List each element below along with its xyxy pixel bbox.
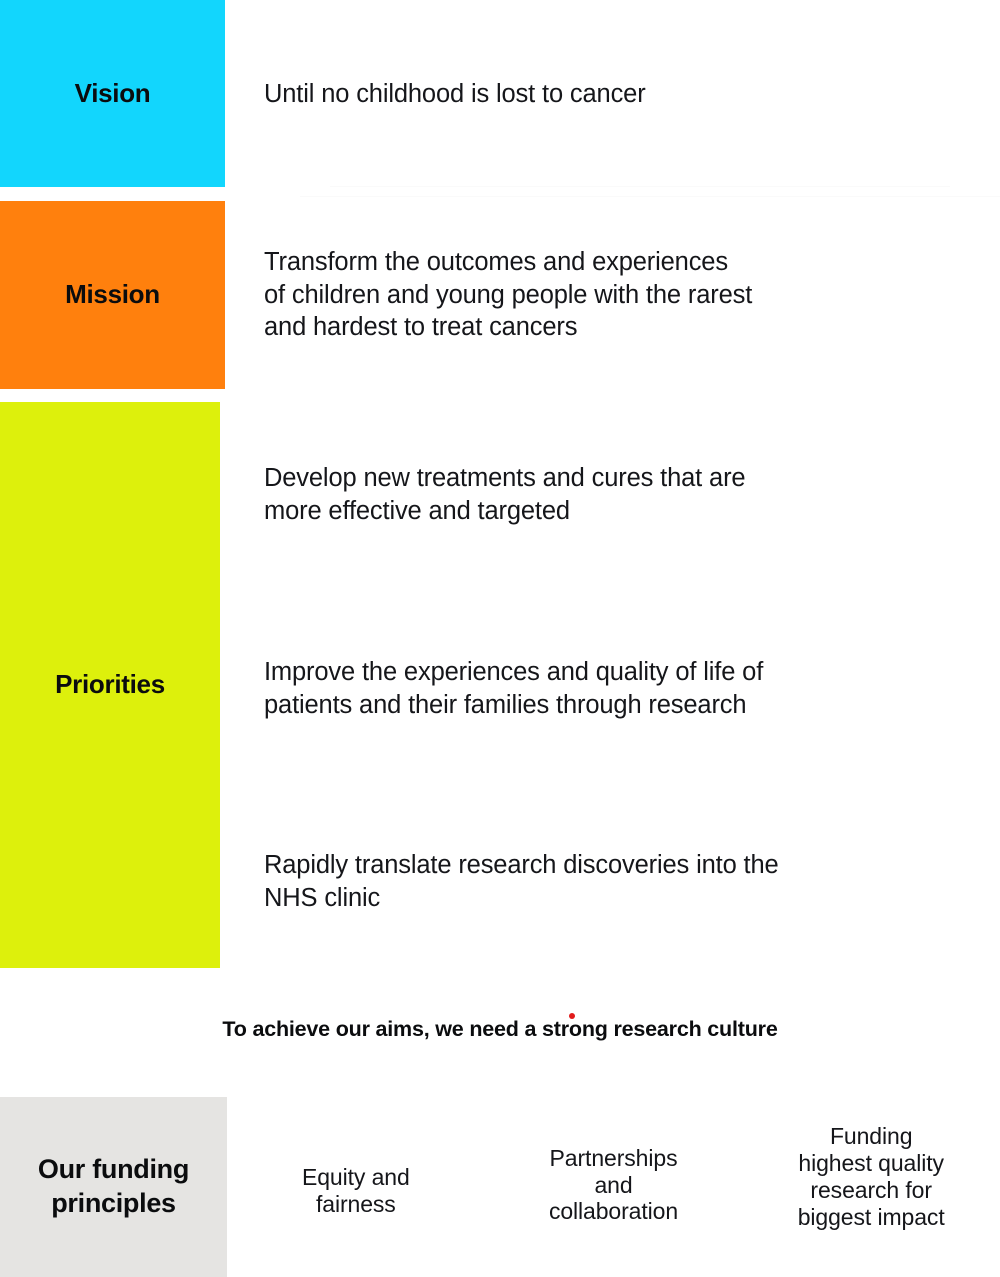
hairline-divider: [330, 186, 950, 187]
tagline-text: To achieve our aims, we need a strong re…: [222, 1017, 777, 1041]
research-culture-tagline: To achieve our aims, we need a strong re…: [222, 1017, 777, 1042]
funding-principle-item: Funding highest quality research for big…: [742, 1123, 1000, 1231]
funding-principle-item: Partnerships and collaboration: [485, 1145, 743, 1226]
priority-item: Develop new treatments and cures that ar…: [264, 462, 924, 527]
funding-principles-block: Our funding principles: [0, 1097, 227, 1277]
hairline-divider: [300, 196, 1000, 197]
strategy-infographic: Vision Until no childhood is lost to can…: [0, 0, 1000, 1277]
funding-principles-row: Equity and fairness Partnerships and col…: [227, 1097, 1000, 1277]
funding-principles-label: Our funding principles: [0, 1153, 227, 1221]
vision-color-block: Vision: [0, 0, 225, 187]
funding-principle-item: Equity and fairness: [227, 1164, 485, 1218]
priority-item: Rapidly translate research discoveries i…: [264, 849, 954, 914]
red-dot-marker-icon: [569, 1013, 575, 1019]
priorities-label: Priorities: [55, 670, 165, 699]
mission-statement: Transform the outcomes and experiences o…: [264, 246, 924, 344]
mission-label: Mission: [65, 280, 160, 309]
vision-label: Vision: [75, 79, 151, 108]
tagline-row: To achieve our aims, we need a strong re…: [0, 1008, 1000, 1050]
vision-statement: Until no childhood is lost to cancer: [264, 78, 954, 111]
mission-color-block: Mission: [0, 201, 225, 389]
priority-item: Improve the experiences and quality of l…: [264, 656, 944, 721]
priorities-color-block: Priorities: [0, 402, 220, 968]
